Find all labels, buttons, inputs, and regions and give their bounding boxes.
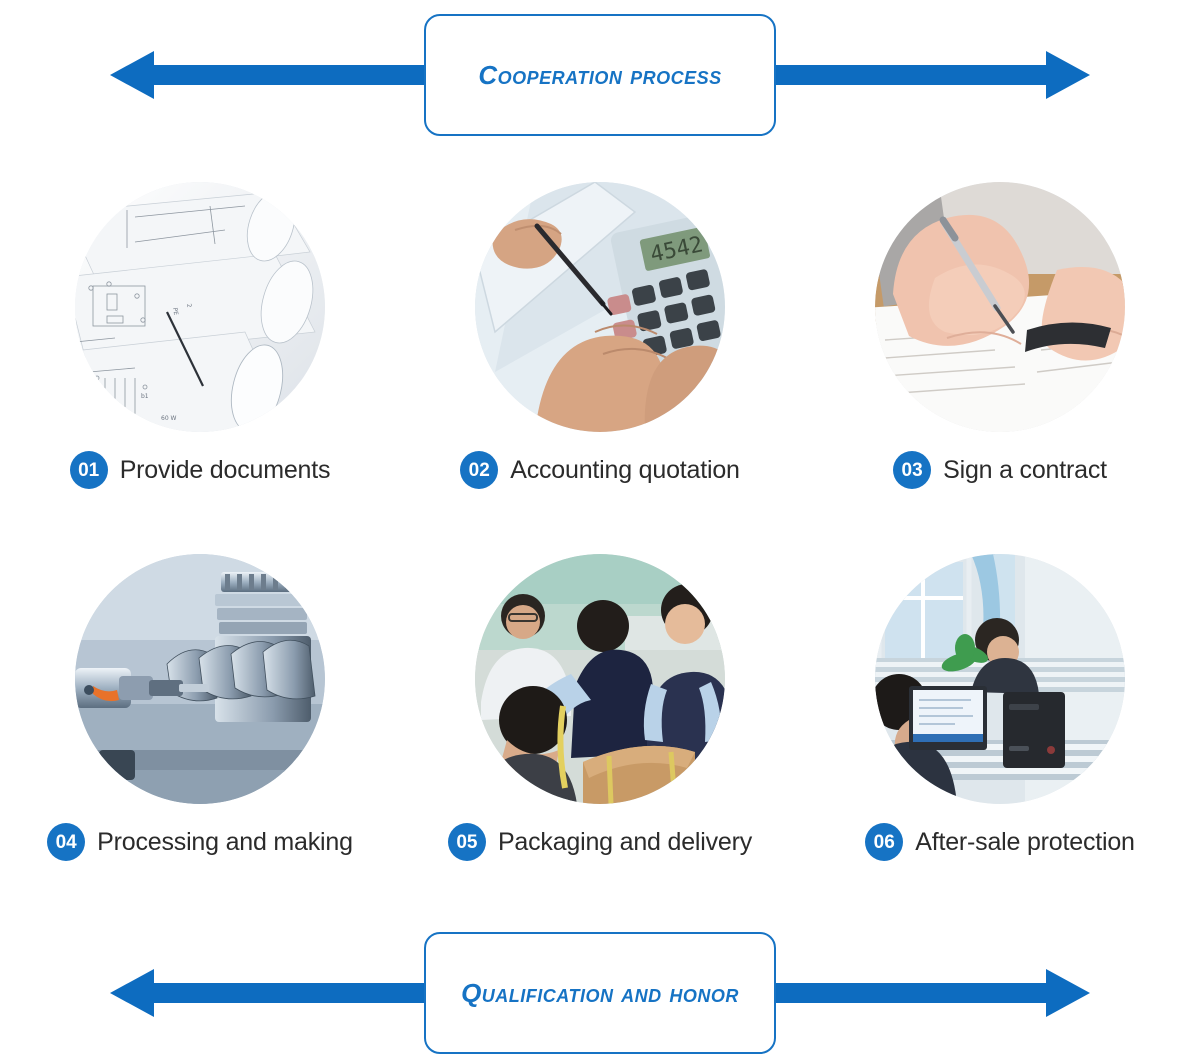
step-thumbnail-02: 4542: [475, 182, 725, 432]
step-badge-02: 02: [460, 451, 498, 489]
svg-text:60 W: 60 W: [161, 415, 177, 422]
cooperation-process-banner: Cooperation process: [0, 10, 1200, 140]
step-badge-04: 04: [47, 823, 85, 861]
step-thumbnail-06: [875, 554, 1125, 804]
step-thumbnail-05: [475, 554, 725, 804]
banner-title-bottom: Qualification and honor: [461, 978, 739, 1009]
step-item-02[interactable]: 4542: [400, 182, 800, 492]
rolled-blueprints-photo: PE 2 60 W b1: [75, 182, 325, 432]
step-badge-05: 05: [448, 823, 486, 861]
step-label-05: Packaging and delivery: [498, 828, 752, 857]
warehouse-packaging-photo: [475, 554, 725, 804]
step-caption-03: 03 Sign a contract: [893, 448, 1107, 492]
step-caption-02: 02 Accounting quotation: [460, 448, 740, 492]
qualification-honor-banner: Qualification and honor: [0, 928, 1200, 1058]
cnc-machining-photo: [75, 554, 325, 804]
step-caption-05: 05 Packaging and delivery: [448, 820, 752, 864]
step-item-01[interactable]: PE 2 60 W b1 01 Provide documents: [0, 182, 400, 492]
cooperation-steps: PE 2 60 W b1 01 Provide documents: [0, 182, 1200, 864]
step-label-06: After-sale protection: [915, 828, 1135, 857]
svg-text:PE: PE: [171, 307, 179, 316]
step-item-05[interactable]: 05 Packaging and delivery: [400, 554, 800, 864]
steps-row-2: 04 Processing and making: [0, 554, 1200, 864]
step-label-04: Processing and making: [97, 828, 353, 857]
svg-text:b1: b1: [141, 393, 149, 400]
step-badge-06: 06: [865, 823, 903, 861]
step-badge-03: 03: [893, 451, 931, 489]
hands-calculator-photo: 4542: [475, 182, 725, 432]
step-label-01: Provide documents: [120, 456, 331, 485]
step-caption-01: 01 Provide documents: [70, 448, 331, 492]
step-item-03[interactable]: 03 Sign a contract: [800, 182, 1200, 492]
step-item-04[interactable]: 04 Processing and making: [0, 554, 400, 864]
step-badge-01: 01: [70, 451, 108, 489]
banner-title-box-bottom: Qualification and honor: [424, 932, 776, 1054]
step-label-03: Sign a contract: [943, 456, 1107, 485]
office-workers-photo: [875, 554, 1125, 804]
step-label-02: Accounting quotation: [510, 456, 740, 485]
banner-title-top: Cooperation process: [478, 60, 721, 91]
signing-contract-photo: [875, 182, 1125, 432]
steps-row-1: PE 2 60 W b1 01 Provide documents: [0, 182, 1200, 492]
step-item-06[interactable]: 06 After-sale protection: [800, 554, 1200, 864]
step-caption-06: 06 After-sale protection: [865, 820, 1135, 864]
step-thumbnail-03: [875, 182, 1125, 432]
step-thumbnail-01: PE 2 60 W b1: [75, 182, 325, 432]
banner-title-box-top: Cooperation process: [424, 14, 776, 136]
step-caption-04: 04 Processing and making: [47, 820, 353, 864]
step-thumbnail-04: [75, 554, 325, 804]
